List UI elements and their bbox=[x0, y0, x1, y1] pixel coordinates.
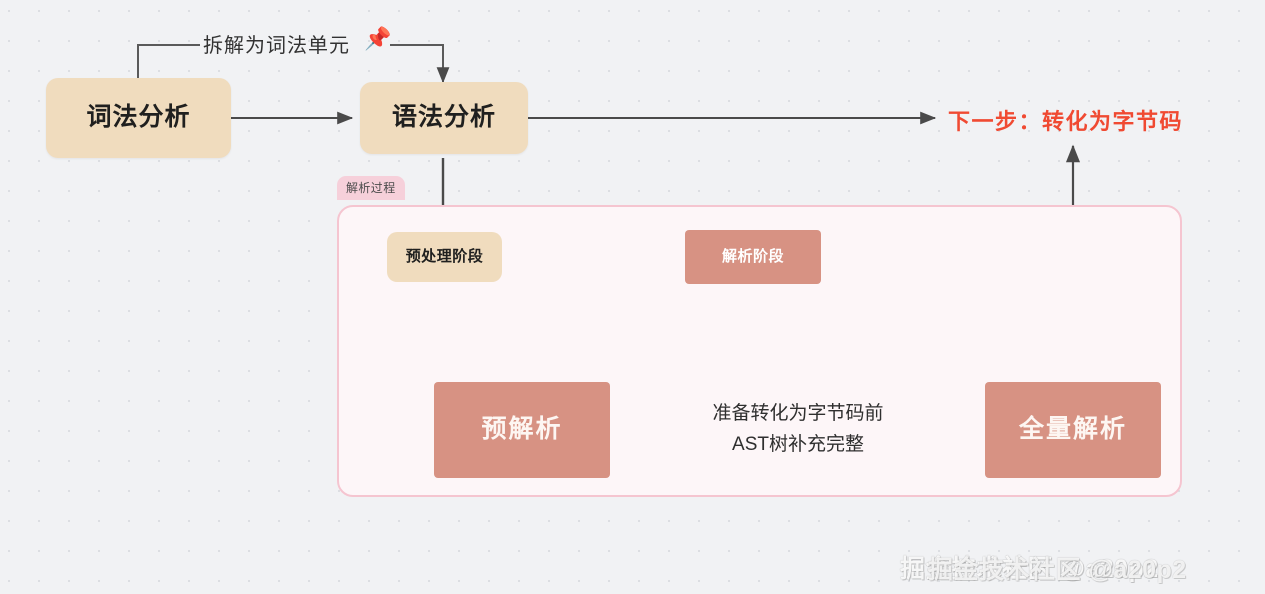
next-step-label: 下一步：转化为字节码 bbox=[948, 104, 1183, 136]
node-full-parse[interactable]: 全量解析 bbox=[985, 382, 1161, 478]
node-lexical-analysis[interactable]: 词法分析 bbox=[46, 78, 231, 158]
edge-label-ast-note: 准备转化为字节码前 AST树补充完整 bbox=[688, 398, 908, 461]
node-parse-stage[interactable]: 解析阶段 bbox=[685, 230, 821, 284]
ast-note-line-1: 准备转化为字节码前 bbox=[688, 398, 908, 429]
node-preprocess-stage[interactable]: 预处理阶段 bbox=[387, 232, 502, 282]
watermark-text-back: 掘金技术社区 @a20p2 bbox=[928, 550, 1187, 586]
ast-note-line-2: AST树补充完整 bbox=[688, 429, 908, 460]
node-syntax-analysis[interactable]: 语法分析 bbox=[360, 82, 528, 154]
pushpin-icon: 📌 bbox=[364, 28, 391, 50]
edge-label-tokenize: 拆解为词法单元 bbox=[203, 29, 350, 58]
edge-tokenize-right bbox=[390, 45, 443, 82]
parse-process-group-badge: 解析过程 bbox=[337, 176, 405, 200]
node-pre-parse[interactable]: 预解析 bbox=[434, 382, 610, 478]
watermark: 掘金技术社区 @a20p2 掘金技术社区 @a20p2 bbox=[900, 549, 1159, 585]
diagram-canvas: 解析过程 词法分析 语法分析 预处理阶段 解析阶段 预解析 全量解析 拆解为词法… bbox=[0, 0, 1265, 594]
